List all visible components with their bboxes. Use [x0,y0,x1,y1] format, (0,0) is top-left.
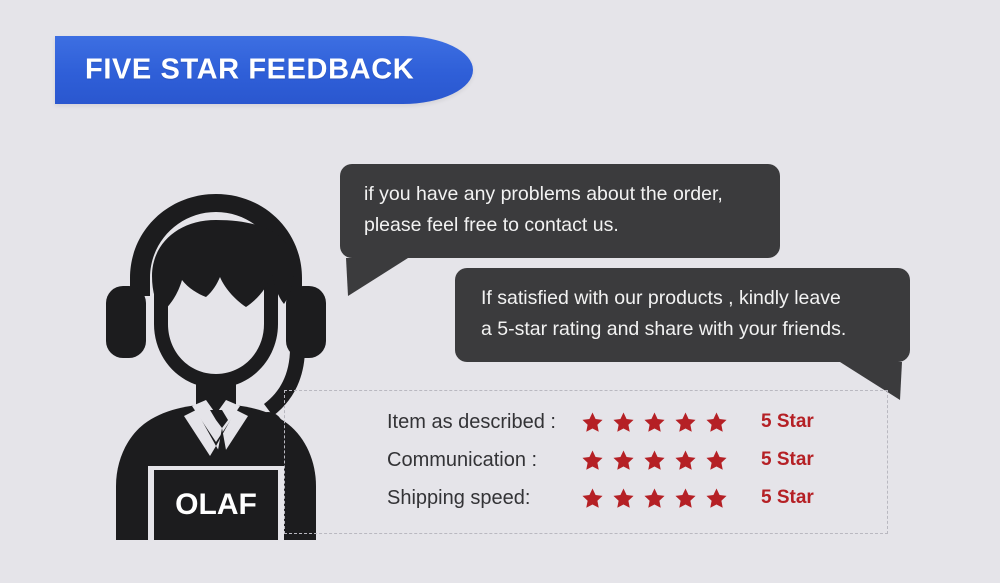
bubble-line-2: a 5-star rating and share with your frie… [481,314,888,345]
star-icon[interactable] [705,449,728,472]
star-icon[interactable] [612,411,635,434]
star-icon[interactable] [581,487,604,510]
star-icon[interactable] [643,449,666,472]
header-banner: FIVE STAR FEEDBACK [55,36,473,104]
bubble-line-1: If satisfied with our products , kindly … [481,283,888,314]
rating-stars[interactable] [581,487,747,510]
rating-label: Shipping speed: [387,487,581,510]
star-icon[interactable] [674,449,697,472]
speech-bubble-rating-request: If satisfied with our products , kindly … [455,268,910,362]
rating-row: Communication :5 Star [387,441,857,479]
laptop-brand-label: OLAF [175,488,257,521]
rating-value: 5 Star [747,411,814,433]
laptop-icon: OLAF [148,466,284,540]
rating-value: 5 Star [747,487,814,509]
ratings-list: Item as described :5 StarCommunication :… [387,403,857,517]
page-title: FIVE STAR FEEDBACK [85,54,414,87]
rating-row: Item as described :5 Star [387,403,857,441]
rating-value: 5 Star [747,449,814,471]
ratings-panel: Item as described :5 StarCommunication :… [284,390,888,534]
speech-bubble-support: if you have any problems about the order… [340,164,780,258]
rating-stars[interactable] [581,449,747,472]
star-icon[interactable] [705,487,728,510]
speech-bubble-tail-icon [346,258,416,298]
bubble-line-1: if you have any problems about the order… [364,179,758,210]
star-icon[interactable] [643,487,666,510]
feedback-banner-page: FIVE STAR FEEDBACK [0,0,1000,583]
star-icon[interactable] [612,449,635,472]
rating-row: Shipping speed:5 Star [387,479,857,517]
star-icon[interactable] [581,411,604,434]
star-icon[interactable] [674,411,697,434]
rating-label: Item as described : [387,411,581,434]
star-icon[interactable] [674,487,697,510]
rating-stars[interactable] [581,411,747,434]
star-icon[interactable] [705,411,728,434]
rating-label: Communication : [387,449,581,472]
star-icon[interactable] [581,449,604,472]
star-icon[interactable] [612,487,635,510]
bubble-line-2: please feel free to contact us. [364,210,758,241]
star-icon[interactable] [643,411,666,434]
